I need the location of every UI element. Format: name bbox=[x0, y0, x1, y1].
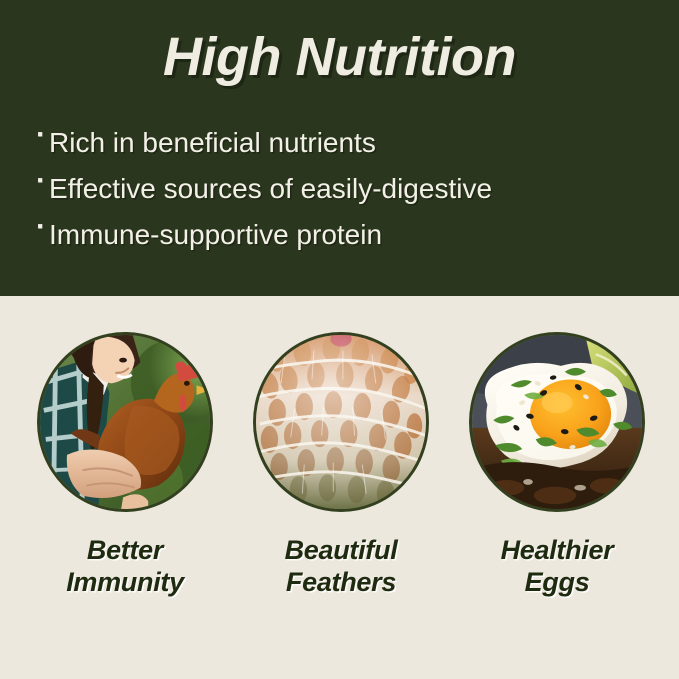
bullet-dot-icon: · bbox=[36, 210, 49, 244]
bullet-dot-icon: · bbox=[36, 118, 49, 152]
feature-healthier-eggs: Healthier Eggs bbox=[464, 332, 650, 598]
feature-beautiful-feathers: Beautiful Feathers bbox=[248, 332, 434, 598]
bullet-dot-icon: · bbox=[36, 164, 49, 198]
feature-caption: Beautiful Feathers bbox=[248, 534, 434, 598]
list-item: · Effective sources of easily-digestive bbox=[36, 172, 656, 206]
caption-line-2: Eggs bbox=[464, 566, 650, 598]
page-title: High Nutrition bbox=[0, 26, 679, 88]
hero-banner: High Nutrition · Rich in beneficial nutr… bbox=[0, 0, 679, 296]
feature-better-immunity: Better Immunity bbox=[32, 332, 218, 598]
feature-caption: Healthier Eggs bbox=[464, 534, 650, 598]
caption-line-1: Healthier bbox=[501, 535, 614, 565]
benefit-text: Rich in beneficial nutrients bbox=[49, 126, 376, 160]
fried-egg-dish-photo bbox=[469, 332, 645, 512]
caption-line-1: Better bbox=[87, 535, 163, 565]
benefit-text: Immune-supportive protein bbox=[49, 218, 382, 252]
caption-line-1: Beautiful bbox=[285, 535, 398, 565]
caption-line-2: Immunity bbox=[32, 566, 218, 598]
caption-line-2: Feathers bbox=[248, 566, 434, 598]
benefit-text: Effective sources of easily-digestive bbox=[49, 172, 492, 206]
woman-holding-hen-photo bbox=[37, 332, 213, 512]
list-item: · Immune-supportive protein bbox=[36, 218, 656, 252]
feature-caption: Better Immunity bbox=[32, 534, 218, 598]
product-infographic: High Nutrition · Rich in beneficial nutr… bbox=[0, 0, 679, 679]
list-item: · Rich in beneficial nutrients bbox=[36, 126, 656, 160]
feature-row: Better Immunity bbox=[0, 296, 679, 679]
benefit-list: · Rich in beneficial nutrients · Effecti… bbox=[36, 126, 656, 264]
chicken-feathers-closeup-photo bbox=[253, 332, 429, 512]
